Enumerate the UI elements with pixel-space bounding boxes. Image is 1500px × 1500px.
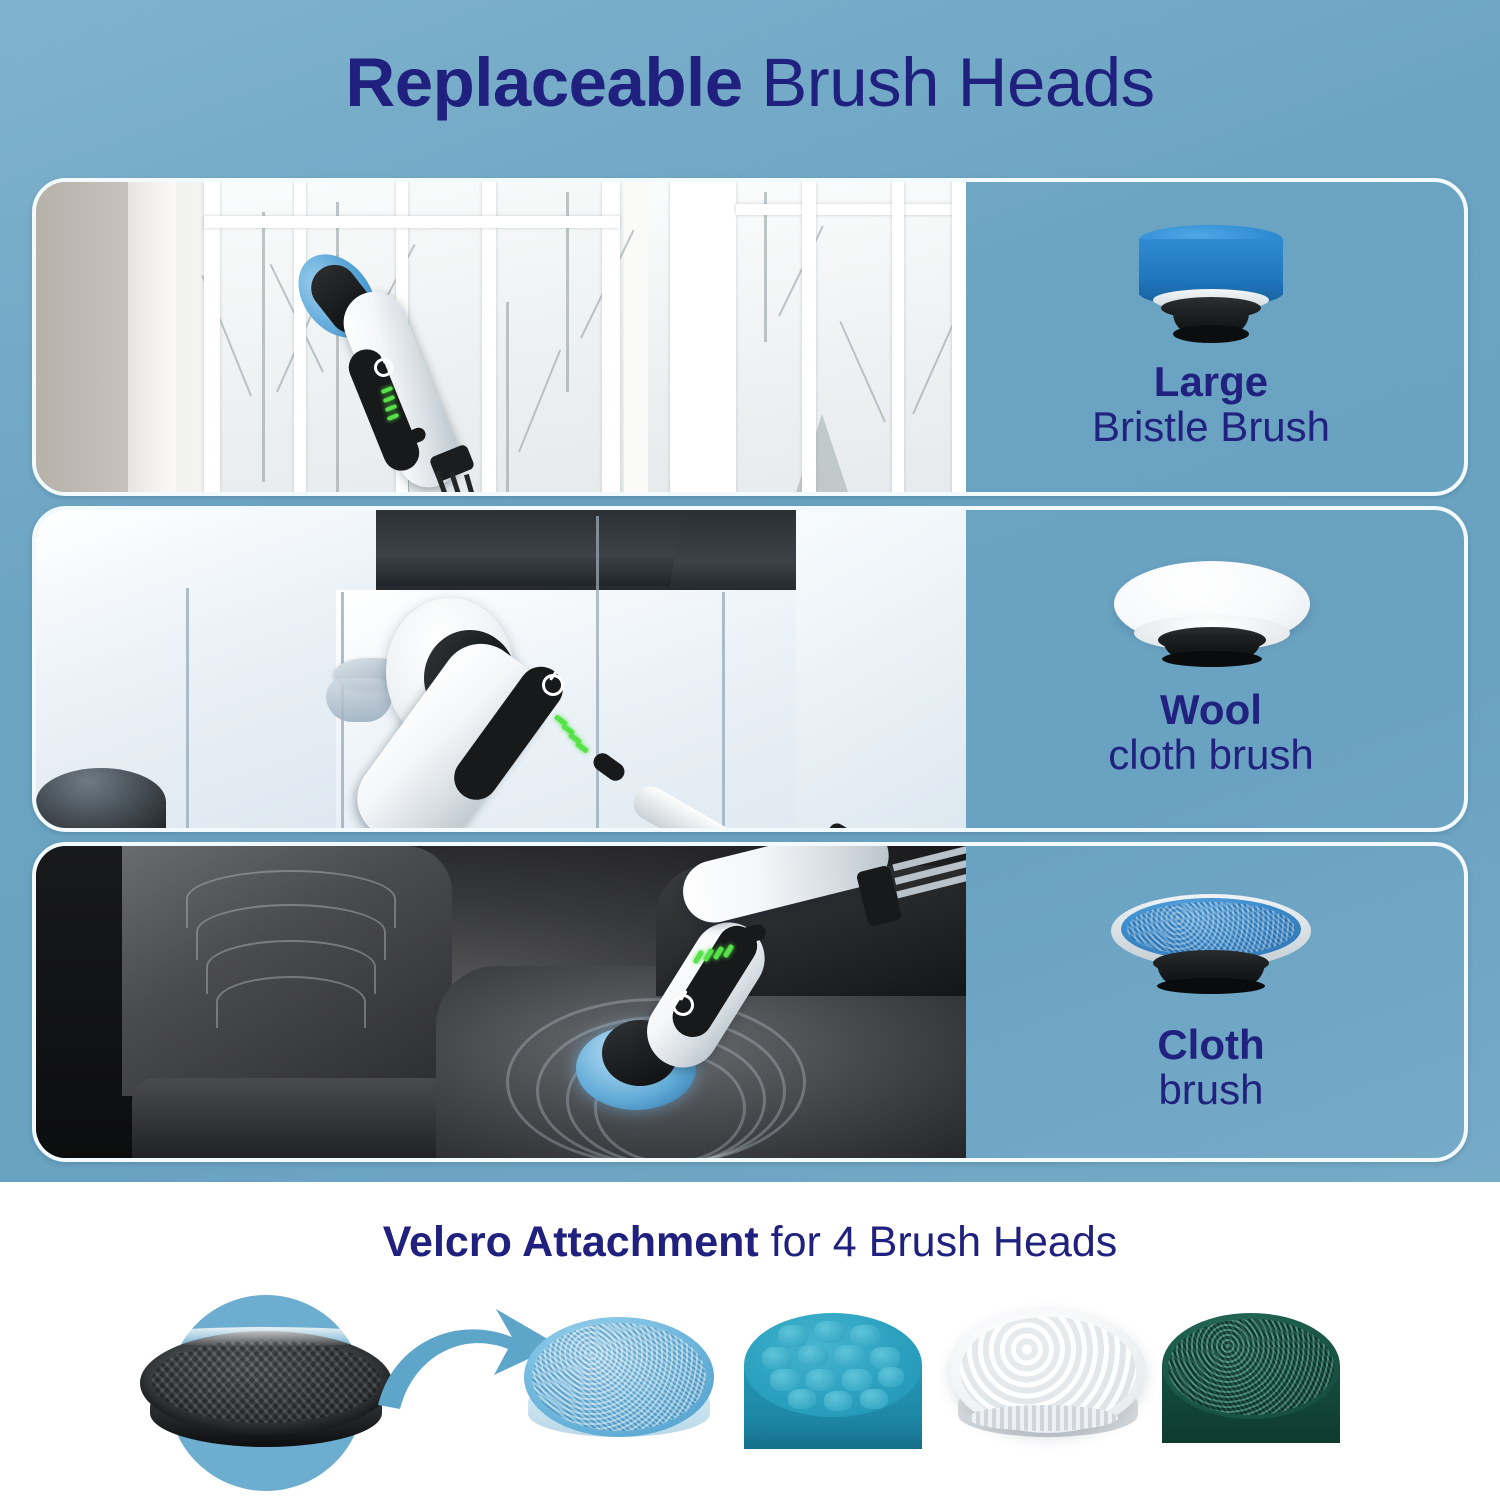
brush-head-row-cloth: Cloth brush (32, 842, 1468, 1162)
blue-cloth-pad-art (1101, 892, 1321, 1004)
label-wool: Wool cloth brush (1108, 687, 1313, 778)
label-regular-1: cloth brush (1108, 732, 1313, 777)
velcro-section: Velcro Attachment for 4 Brush Heads (0, 1182, 1500, 1500)
brush-head-row-wool: Wool cloth brush (32, 506, 1468, 832)
window-cleaning-photo (36, 182, 966, 492)
white-wool-pad-art (1096, 561, 1326, 673)
velcro-title-regular: for 4 Brush Heads (759, 1218, 1118, 1266)
label-regular-2: brush (1157, 1067, 1264, 1112)
label-large-bristle: Large Bristle Brush (1092, 359, 1330, 450)
label-pane-wool: Wool cloth brush (958, 510, 1464, 828)
label-cloth: Cloth brush (1157, 1022, 1264, 1113)
brush-head-row-large-bristle: Large Bristle Brush (32, 178, 1468, 496)
page-title-bold: Replaceable (345, 44, 742, 121)
wool-bonnet-pad (950, 1309, 1146, 1465)
velcro-backing-plate (140, 1331, 392, 1459)
velcro-section-title: Velcro Attachment for 4 Brush Heads (0, 1220, 1500, 1265)
label-bold-0: Large (1092, 359, 1330, 404)
velcro-title-bold: Velcro Attachment (383, 1218, 759, 1266)
velcro-parts-strip (0, 1287, 1500, 1500)
label-pane-large-bristle: Large Bristle Brush (958, 182, 1464, 492)
label-pane-cloth: Cloth brush (958, 846, 1464, 1158)
car-seat-photo (36, 846, 966, 1158)
chenille-microfiber-pad (524, 1317, 714, 1465)
page-title-regular: Brush Heads (743, 44, 1155, 121)
car-exterior-photo (36, 510, 966, 828)
page-title: Replaceable Brush Heads (0, 47, 1500, 119)
hex-foam-polishing-pad (740, 1313, 926, 1469)
label-bold-1: Wool (1108, 687, 1313, 732)
green-scouring-pad (1158, 1313, 1344, 1465)
label-bold-2: Cloth (1157, 1022, 1264, 1067)
blue-bristle-pad-art (1111, 225, 1311, 345)
label-regular-0: Bristle Brush (1092, 404, 1330, 449)
